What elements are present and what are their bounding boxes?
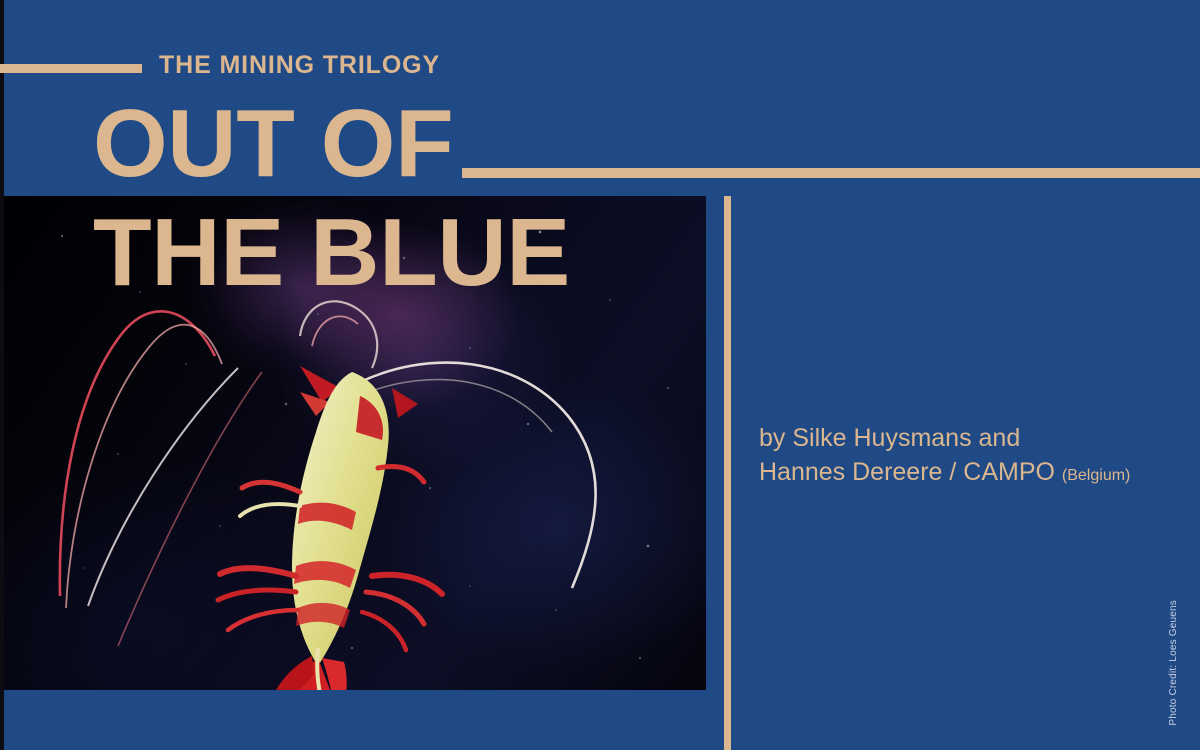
accent-rule-mid-right [462,168,1200,178]
creator-credit-line-2-wrap: Hannes Dereere / CAMPO (Belgium) [759,456,1169,490]
creator-credit-line-1: by Silke Huysmans and [759,422,1169,456]
series-kicker: THE MINING TRILOGY [159,51,440,80]
accent-rule-vertical [724,196,731,750]
creator-credit-line-2: Hannes Dereere / CAMPO [759,458,1055,486]
creator-credit: by Silke Huysmans and Hannes Dereere / C… [759,422,1169,489]
page-title-line-1: OUT OF [93,96,453,192]
left-edge-strip [0,0,4,750]
photo-credit-label: Photo Credit: Loes Geuens [1168,600,1179,726]
creator-credit-country: (Belgium) [1062,467,1130,484]
page-title-line-2: THE BLUE [93,205,570,301]
accent-rule-top-left [0,64,142,73]
poster-canvas: THE MINING TRILOGY OUT OF THE BLUE by Si… [0,0,1200,750]
